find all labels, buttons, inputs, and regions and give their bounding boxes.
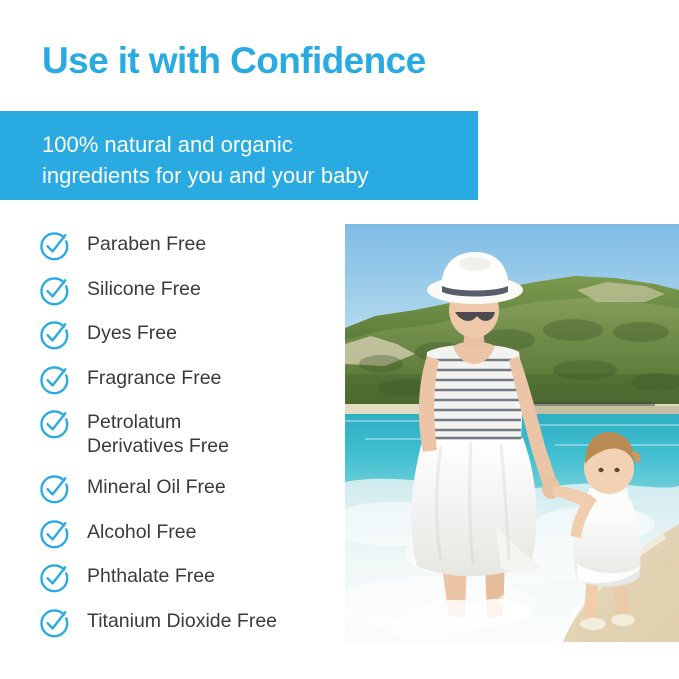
feature-label: Petrolatum Derivatives Free (87, 409, 229, 458)
check-circle-icon (40, 321, 69, 350)
feature-list: Paraben Free Silicone Free Dyes Free Fra… (40, 231, 340, 652)
feature-item: Alcohol Free (40, 519, 340, 549)
feature-item: Fragrance Free (40, 365, 340, 395)
infographic-page: Use it with Confidence 100% natural and … (0, 0, 679, 679)
check-circle-icon (40, 564, 69, 593)
feature-label: Dyes Free (87, 320, 177, 345)
feature-item: Paraben Free (40, 231, 340, 261)
feature-label: Titanium Dioxide Free (87, 608, 277, 633)
check-circle-icon (40, 520, 69, 549)
feature-item: Phthalate Free (40, 563, 340, 593)
feature-item: Petrolatum Derivatives Free (40, 409, 340, 458)
subtitle-banner: 100% natural and organic ingredients for… (0, 111, 478, 200)
subtitle-text: 100% natural and organic ingredients for… (42, 129, 462, 191)
page-title: Use it with Confidence (42, 41, 426, 82)
feature-label: Mineral Oil Free (87, 474, 226, 499)
check-circle-icon (40, 475, 69, 504)
feature-item: Mineral Oil Free (40, 474, 340, 504)
check-circle-icon (40, 410, 69, 439)
feature-label: Silicone Free (87, 276, 201, 301)
feature-item: Titanium Dioxide Free (40, 608, 340, 638)
feature-label: Phthalate Free (87, 563, 215, 588)
beach-photo (345, 224, 679, 642)
check-circle-icon (40, 609, 69, 638)
check-circle-icon (40, 366, 69, 395)
check-circle-icon (40, 232, 69, 261)
feature-item: Silicone Free (40, 276, 340, 306)
check-circle-icon (40, 277, 69, 306)
feature-item: Dyes Free (40, 320, 340, 350)
feature-label: Alcohol Free (87, 519, 196, 544)
feature-label: Paraben Free (87, 231, 206, 256)
feature-label: Fragrance Free (87, 365, 221, 390)
